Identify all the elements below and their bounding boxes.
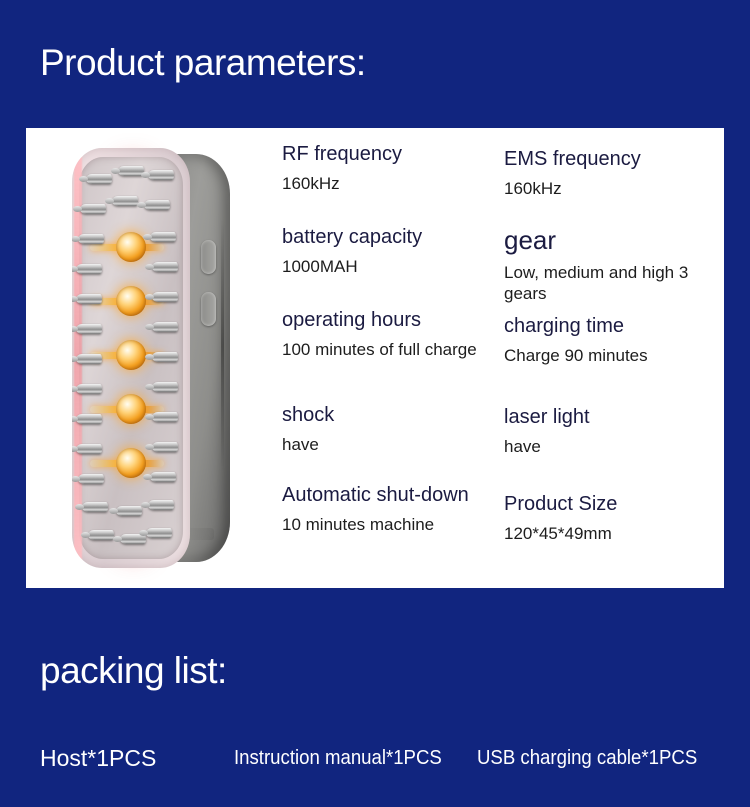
spec-label: EMS frequency	[504, 147, 719, 171]
spec-value: Charge 90 minutes	[504, 345, 719, 366]
spec-row: gear Low, medium and high 3 gears	[504, 226, 719, 304]
spec-row: operating hours 100 minutes of full char…	[282, 308, 482, 360]
spec-value: have	[282, 434, 482, 455]
spec-value: 1000MAH	[282, 256, 482, 277]
spec-label: operating hours	[282, 308, 482, 332]
packing-list-title: packing list:	[40, 650, 227, 692]
mode-button-icon	[201, 292, 216, 326]
packing-list-item: USB charging cable*1PCS	[477, 747, 697, 770]
spec-label: Product Size	[504, 492, 719, 516]
spec-row: EMS frequency 160kHz	[504, 147, 719, 199]
page-title: Product parameters:	[40, 42, 366, 84]
massager-head-plate	[72, 148, 190, 568]
spec-value: 160kHz	[282, 173, 482, 194]
spec-row: Product Size 120*45*49mm	[504, 492, 719, 544]
spec-row: battery capacity 1000MAH	[282, 225, 482, 277]
spec-row: RF frequency 160kHz	[282, 142, 482, 194]
spec-row: laser light have	[504, 405, 719, 457]
spec-label: shock	[282, 403, 482, 427]
spec-value: 100 minutes of full charge	[282, 339, 482, 360]
spec-value: Low, medium and high 3 gears	[504, 262, 719, 304]
spec-label: battery capacity	[282, 225, 482, 249]
packing-list-item: Instruction manual*1PCS	[234, 747, 442, 770]
spec-value: have	[504, 436, 719, 457]
spec-label: charging time	[504, 314, 719, 338]
massager-device-illustration	[72, 148, 232, 568]
packing-list-item: Host*1PCS	[40, 745, 156, 772]
spec-label: gear	[504, 226, 719, 255]
spec-label: RF frequency	[282, 142, 482, 166]
spec-value: 120*45*49mm	[504, 523, 719, 544]
spec-row: charging time Charge 90 minutes	[504, 314, 719, 366]
spec-label: laser light	[504, 405, 719, 429]
spec-row: Automatic shut-down 10 minutes machine	[282, 483, 482, 535]
spec-label: Automatic shut-down	[282, 483, 482, 507]
power-button-icon	[201, 240, 216, 274]
product-parameters-card: RF frequency 160kHz battery capacity 100…	[26, 128, 724, 588]
spec-value: 10 minutes machine	[282, 514, 482, 535]
spec-value: 160kHz	[504, 178, 719, 199]
product-image	[34, 134, 284, 582]
spec-row: shock have	[282, 403, 482, 455]
